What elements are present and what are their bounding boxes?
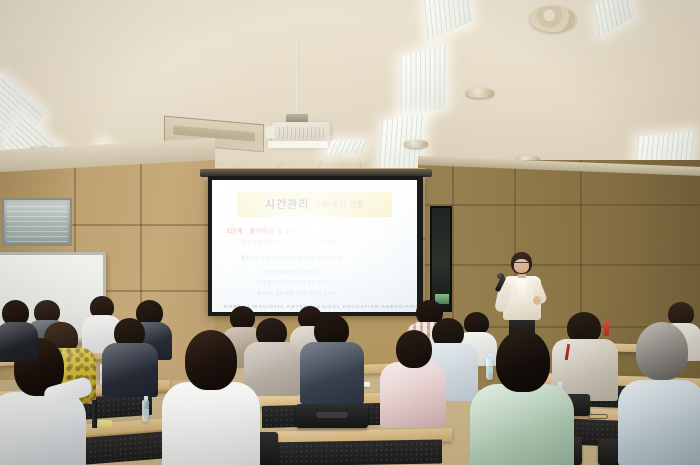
attendee-far-left-edge <box>0 300 38 358</box>
wall-seam <box>418 264 700 266</box>
slide-title-band: 시간관리 나를 위한 선물 <box>237 192 393 217</box>
wall-mounted-display-panel <box>430 206 452 312</box>
slide-bullet-3: 그 시간은 나에게 어떤 의미였나 <box>257 270 318 276</box>
torso <box>380 362 446 428</box>
chair-back <box>296 404 368 428</box>
wall-seam <box>418 204 700 206</box>
projection-screen-frame: 시간관리 나를 위한 선물 1단계 : 좋아하는 일 알아보기 내가 가장 좋아… <box>208 176 423 316</box>
slide-title-sub: 나를 위한 선물 <box>314 199 364 210</box>
torso <box>300 342 364 404</box>
torso <box>102 343 158 397</box>
slide-bullet-2: 좋아하는 일을 하면서 시간을 보낸 적이 있나요 <box>241 255 342 262</box>
desk-row2-center-panel <box>262 439 442 465</box>
projector-mount-pole <box>296 38 299 120</box>
glasses-icon <box>515 262 528 265</box>
attendee-white-shirt-front <box>162 330 260 465</box>
head <box>636 322 688 380</box>
ceiling-speaker <box>530 6 576 32</box>
lecture-hall-photo: 시간관리 나를 위한 선물 1단계 : 좋아하는 일 알아보기 내가 가장 좋아… <box>0 0 700 465</box>
slide-heading: 1단계 : 좋아하는 일 알아보기 <box>226 225 310 235</box>
torso <box>162 382 260 465</box>
presenter-right-hand <box>533 296 541 305</box>
slide-title-main: 시간관리 <box>265 196 309 212</box>
sprinkler-head-1 <box>466 88 494 98</box>
head <box>496 330 550 392</box>
torso <box>0 392 86 465</box>
attendee-pinkshirt-leaning <box>380 330 446 426</box>
torso <box>470 384 574 465</box>
light-panel-3 <box>401 44 445 119</box>
water-bottle <box>142 400 149 422</box>
window-with-blinds <box>2 198 72 246</box>
slide-bullet-4: 그 일을 다시 한다면 언제 하고 싶은가 <box>257 280 329 286</box>
sprinkler-head-2 <box>404 140 428 148</box>
projector-lens <box>266 127 275 138</box>
paper-cup <box>98 420 112 427</box>
attendee-navy-suit <box>102 318 158 396</box>
wall-seam <box>58 224 218 226</box>
eyeglasses-on-desk <box>588 414 608 419</box>
projector-base-plate <box>268 141 328 148</box>
attendee-mint-green <box>470 330 574 465</box>
presenter-speaking <box>493 252 555 338</box>
light-panel-under-projector <box>325 140 367 154</box>
head <box>396 330 432 368</box>
torso <box>618 380 700 465</box>
attendee-grey-hair-right <box>618 322 700 465</box>
projection-screen: 시간관리 나를 위한 선물 1단계 : 좋아하는 일 알아보기 내가 가장 좋아… <box>212 180 417 312</box>
head <box>185 330 237 390</box>
slide-bullet-5: 좋아하는 일을 위한 시간을 만들어 봅시다 <box>257 291 336 297</box>
desk-leg <box>92 400 97 428</box>
microphone-head-icon <box>497 273 504 279</box>
torso <box>0 322 38 362</box>
slide-bullet-1: 내가 가장 좋아하는 일은 무엇인지 적어봅시다 <box>241 239 340 246</box>
projector-vent-grille <box>275 127 326 138</box>
attendee-navy-polo-center <box>300 314 364 402</box>
